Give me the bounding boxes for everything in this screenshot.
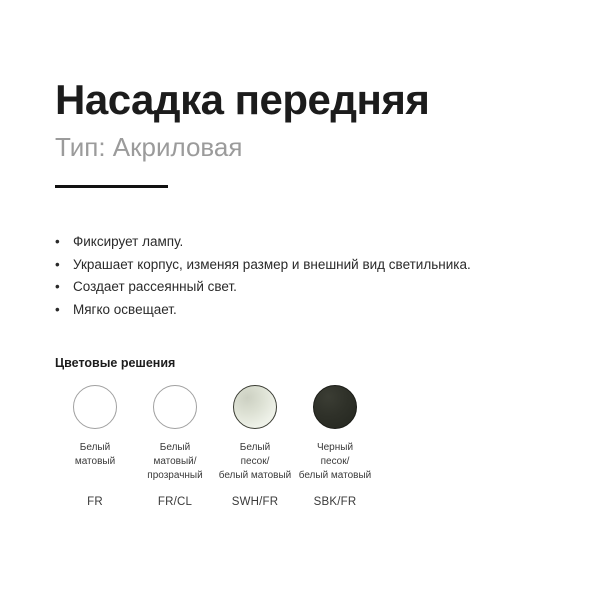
feature-text: Мягко освещает. — [73, 302, 177, 317]
title-divider — [55, 185, 168, 188]
color-code-label: SWH/FR — [232, 495, 279, 509]
color-option-fr-cl[interactable] — [135, 385, 215, 429]
color-code-cell: SBK/FR — [295, 483, 375, 509]
color-swatch-icon[interactable] — [233, 385, 277, 429]
feature-text: Фиксирует лампу. — [73, 234, 183, 249]
product-type-subtitle: Тип: Акриловая — [55, 132, 555, 162]
color-code-label: SBK/FR — [314, 495, 357, 509]
feature-list: • Фиксирует лампу. • Украшает корпус, из… — [55, 231, 565, 321]
color-label-cell: Белыйматовый/прозрачный — [135, 429, 215, 483]
list-item: • Создает рассеянный свет. — [55, 276, 565, 299]
color-name-label: Белыйпесок/белый матовый — [212, 441, 298, 483]
color-code-row: FR FR/CL SWH/FR SBK/FR — [55, 483, 555, 509]
color-code-cell: FR/CL — [135, 483, 215, 509]
color-swatch-icon[interactable] — [313, 385, 357, 429]
bullet-icon: • — [55, 254, 60, 277]
feature-text: Создает рассеянный свет. — [73, 279, 237, 294]
color-label-row: Белыйматовый Белыйматовый/прозрачный Бел… — [55, 429, 555, 483]
color-code-label: FR — [87, 495, 103, 509]
color-label-cell: Белыйматовый — [55, 429, 135, 469]
color-option-swh-fr[interactable] — [215, 385, 295, 429]
page-title: Насадка передняя — [55, 76, 555, 124]
color-label-cell: Черныйпесок/белый матовый — [295, 429, 375, 483]
color-name-label: Черныйпесок/белый матовый — [292, 441, 378, 483]
bullet-icon: • — [55, 276, 60, 299]
color-name-label: Белыйматовый — [52, 441, 138, 469]
color-option-sbk-fr[interactable] — [295, 385, 375, 429]
page-header: Насадка передняя Тип: Акриловая — [55, 76, 555, 162]
product-spec-page: Насадка передняя Тип: Акриловая • Фиксир… — [0, 0, 600, 600]
list-item: • Мягко освещает. — [55, 299, 565, 322]
color-options-heading: Цветовые решения — [55, 355, 555, 371]
color-swatch-row — [55, 385, 555, 429]
bullet-icon: • — [55, 231, 60, 254]
list-item: • Украшает корпус, изменяя размер и внеш… — [55, 254, 565, 277]
list-item: • Фиксирует лампу. — [55, 231, 565, 254]
feature-text: Украшает корпус, изменяя размер и внешни… — [73, 257, 471, 272]
color-code-label: FR/CL — [158, 495, 192, 509]
color-label-cell: Белыйпесок/белый матовый — [215, 429, 295, 483]
color-name-label: Белыйматовый/прозрачный — [132, 441, 218, 483]
color-code-cell: FR — [55, 483, 135, 509]
color-code-cell: SWH/FR — [215, 483, 295, 509]
color-option-fr[interactable] — [55, 385, 135, 429]
bullet-icon: • — [55, 299, 60, 322]
color-options-section: Цветовые решения Белыйматовый Белыйматов… — [55, 355, 555, 509]
color-swatch-icon[interactable] — [153, 385, 197, 429]
color-swatch-icon[interactable] — [73, 385, 117, 429]
